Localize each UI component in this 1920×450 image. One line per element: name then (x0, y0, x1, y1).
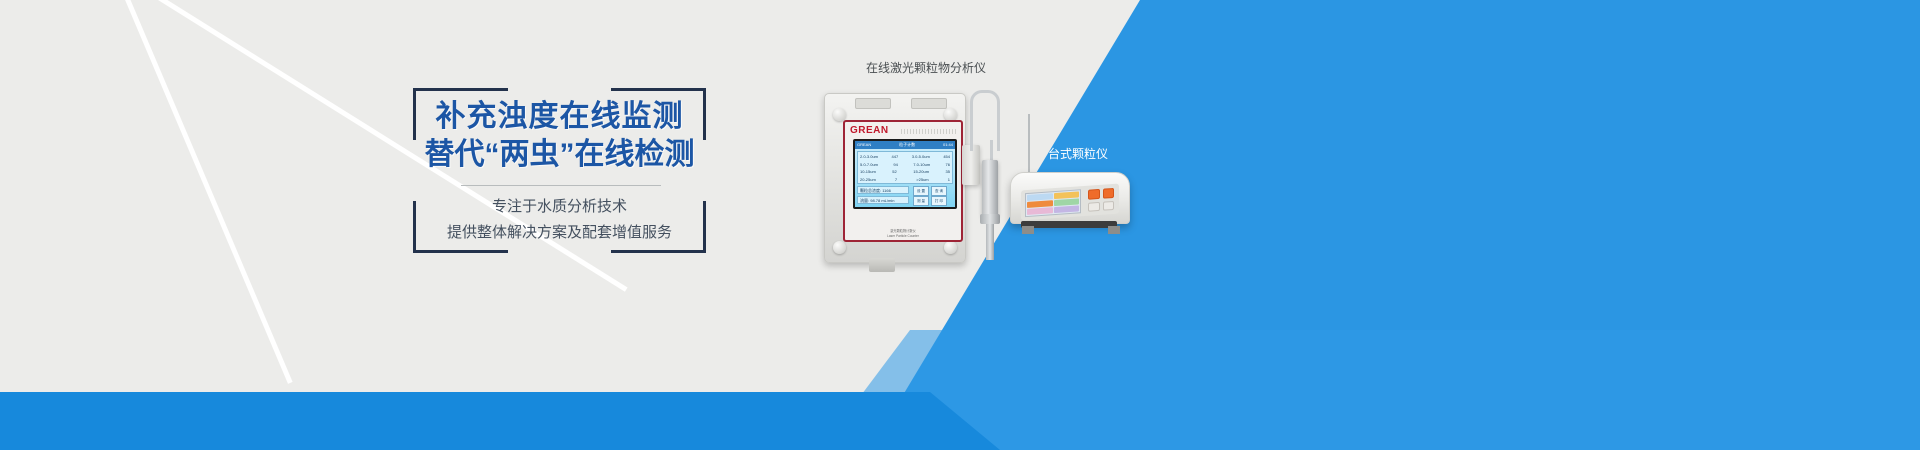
cell-range-a: 20-25um (860, 176, 876, 184)
lcd-title-center: 粒子计数 (899, 141, 915, 149)
keypad-button[interactable] (1103, 188, 1115, 198)
screen-tile (1054, 205, 1080, 213)
table-row: 5.0-7.0um 94 7.0-10um 76 (860, 161, 950, 169)
headline-divider (461, 185, 661, 186)
cell-range-a: 10-15um (860, 168, 876, 176)
analyzer-lcd-screen[interactable]: GREAN 粒子计数 01:44 2.0-3.0um 447 3.0-5.0um… (855, 141, 955, 207)
sensor-cap (980, 214, 1000, 224)
headline-line-2: 替代“两虫”在线检测 (410, 136, 709, 174)
subtitle-line-2: 提供整体解决方案及配套增值服务 (410, 220, 709, 246)
analyzer-brand-logo: GREAN (850, 125, 889, 136)
cell-range-b: 3.0-5.0um (912, 153, 930, 161)
cell-count-a: 7 (895, 176, 897, 184)
sensor-body (982, 160, 998, 216)
cell-count-b: 454 (943, 153, 950, 161)
lcd-title-left: GREAN (857, 141, 871, 149)
cell-range-b: 7.0-10um (913, 161, 930, 169)
cell-range-a: 2.0-3.0um (860, 153, 878, 161)
cell-range-a: 5.0-7.0um (860, 161, 878, 169)
benchtop-control-face (1021, 184, 1119, 221)
table-row: 20-25um 7 >25um 1 (860, 176, 950, 184)
lcd-titlebar: GREAN 粒子计数 01:44 (855, 141, 955, 149)
label-benchtop-counter: 台式颗粒仪 (1048, 145, 1108, 162)
benchtop-foot-right (1108, 226, 1120, 234)
sampling-tube (970, 90, 1000, 151)
cell-count-b: 76 (946, 161, 950, 169)
lcd-particle-table: 2.0-3.0um 447 3.0-5.0um 454 5.0-7.0um 94… (857, 151, 953, 184)
benchtop-enclosure (1010, 172, 1130, 224)
frame-corner-top-right-h (611, 88, 706, 91)
analyzer-enclosure: GREAN GREAN 粒子计数 01:44 2.0-3.0um 447 (824, 93, 966, 263)
table-row: 10-15um 52 15-20um 35 (860, 168, 950, 176)
subtitle: 专注于水质分析技术 提供整体解决方案及配套增值服务 (410, 194, 709, 246)
table-row: 2.0-3.0um 447 3.0-5.0um 454 (860, 153, 950, 161)
cell-count-a: 94 (893, 161, 897, 169)
cell-range-b: 15-20um (913, 168, 929, 176)
headline-frame: 补充浊度在线监测 替代“两虫”在线检测 专注于水质分析技术 提供整体解决方案及配… (413, 88, 706, 253)
sensor-outlet (986, 224, 994, 260)
keypad-button[interactable] (1103, 200, 1115, 210)
nameplate-en: Laser Particle Counter (845, 234, 961, 239)
lcd-field-flowrate: 流量: 98.78 mL/min (857, 196, 909, 204)
benchtop-counter-device (1010, 172, 1132, 244)
hero-banner: 补充浊度在线监测 替代“两虫”在线检测 专注于水质分析技术 提供整体解决方案及配… (0, 0, 1920, 450)
analyzer-cable-gland (869, 258, 895, 272)
lcd-button-measure[interactable]: 测 量 (913, 196, 929, 206)
keypad-button[interactable] (1088, 201, 1100, 211)
analyzer-screw-top-left (833, 108, 846, 121)
sampling-tube-assembly (962, 90, 1002, 265)
analyzer-hinge-right (911, 98, 947, 109)
lcd-button-print[interactable]: 打 印 (931, 196, 947, 206)
analyzer-screw-bottom-left (833, 241, 846, 254)
background-blue-wedge (820, 330, 1920, 450)
benchtop-antenna (1028, 114, 1030, 174)
subtitle-line-1: 专注于水质分析技术 (410, 194, 709, 220)
cell-range-b: >25um (916, 176, 928, 184)
lcd-field-concentration: 颗粒总浓度: 1166 CNT/mL (857, 186, 909, 194)
cell-count-b: 35 (946, 168, 950, 176)
lcd-button-settings[interactable]: 设 置 (913, 186, 929, 196)
analyzer-vent-grille (901, 129, 957, 134)
benchtop-touchscreen[interactable] (1025, 189, 1081, 217)
benchtop-keypad[interactable] (1088, 188, 1114, 212)
analyzer-screen-bezel: GREAN 粒子计数 01:44 2.0-3.0um 447 3.0-5.0um… (853, 139, 957, 209)
lcd-button-query[interactable]: 查 询 (931, 186, 947, 196)
headline-line-1: 补充浊度在线监测 (410, 98, 709, 136)
label-online-analyzer: 在线激光颗粒物分析仪 (866, 59, 986, 76)
cell-count-a: 52 (892, 168, 896, 176)
frame-corner-bottom-left-h (413, 250, 508, 253)
frame-corner-bottom-right-h (611, 250, 706, 253)
cell-count-a: 447 (892, 153, 899, 161)
keypad-button[interactable] (1088, 189, 1100, 199)
analyzer-screw-bottom-right (944, 241, 957, 254)
screen-tile (1027, 207, 1053, 215)
online-analyzer-device: GREAN GREAN 粒子计数 01:44 2.0-3.0um 447 (818, 83, 970, 268)
analyzer-nameplate: 激光颗粒物计数仪 Laser Particle Counter (845, 229, 961, 238)
analyzer-hinge-left (855, 98, 891, 109)
lcd-title-right: 01:44 (943, 141, 953, 149)
frame-corner-top-left-h (413, 88, 508, 91)
analyzer-front-panel: GREAN GREAN 粒子计数 01:44 2.0-3.0um 447 (843, 120, 963, 242)
benchtop-front-slot (1021, 221, 1117, 228)
headline: 补充浊度在线监测 替代“两虫”在线检测 (410, 98, 709, 174)
benchtop-foot-left (1022, 226, 1034, 234)
cell-count-b: 1 (948, 176, 950, 184)
